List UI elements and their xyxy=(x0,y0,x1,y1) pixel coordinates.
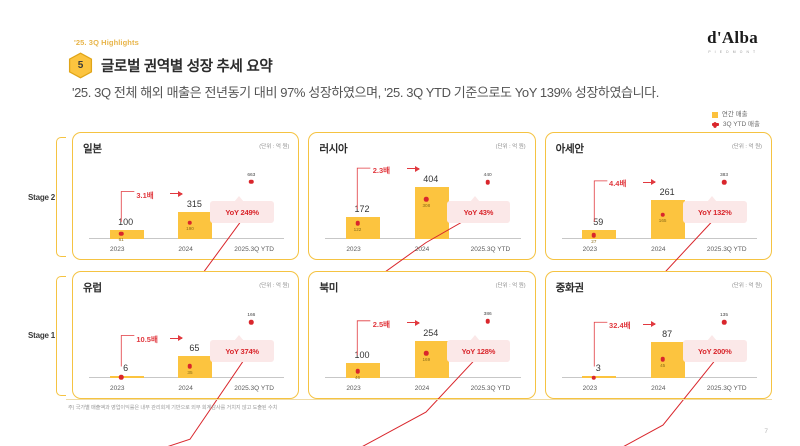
page-title: 글로벌 권역별 성장 추세 요약 xyxy=(101,55,272,76)
x-axis-tick-label: 2023 xyxy=(319,385,387,392)
yoy-callout-pointer xyxy=(470,196,480,202)
region-card-unit: (단위 : 억 원) xyxy=(259,281,289,289)
region-chart-plot: 3874513532.4배YoY 200%202320242025.3Q YTD xyxy=(556,297,761,393)
growth-multiple-label: 2.3배 xyxy=(373,165,390,176)
growth-arrow-icon xyxy=(643,182,655,183)
x-axis-tick-label: 2024 xyxy=(624,385,692,392)
region-card[interactable]: 북미(단위 : 억 원)100254461693862.5배YoY 128%20… xyxy=(308,271,535,399)
legend-diamond-icon xyxy=(712,122,719,129)
yoy-callout-pointer xyxy=(707,335,717,341)
page-title-row: 5 글로벌 권역별 성장 추세 요약 xyxy=(68,52,272,79)
region-card[interactable]: 러시아(단위 : 억 원)1724041223084402.3배YoY 43%2… xyxy=(308,132,535,260)
growth-multiple-label: 10.5배 xyxy=(136,334,158,345)
chart-x-labels: 202320242025.3Q YTD xyxy=(83,385,288,392)
region-chart-plot: 100315611906633.1배YoY 249%202320242025.3… xyxy=(83,158,288,254)
eyebrow-label: '25. 3Q Highlights xyxy=(74,38,139,47)
x-axis-tick-label: 2025.3Q YTD xyxy=(693,246,761,253)
x-axis-tick-label: 2023 xyxy=(83,246,151,253)
x-axis-tick-label: 2023 xyxy=(556,385,624,392)
logo-wordmark: d'Alba xyxy=(707,28,758,48)
yoy-callout: YoY 132% xyxy=(683,201,747,223)
stage-label-2: Stage 2 xyxy=(28,193,55,202)
growth-multiple-label: 3.1배 xyxy=(136,190,153,201)
chart-x-labels: 202320242025.3Q YTD xyxy=(556,385,761,392)
region-card-unit: (단위 : 억 원) xyxy=(732,281,762,289)
growth-arrow-icon xyxy=(170,338,182,339)
region-chart-plot: 100254461693862.5배YoY 128%202320242025.3… xyxy=(319,297,524,393)
region-chart-plot: 1724041223084402.3배YoY 43%202320242025.3… xyxy=(319,158,524,254)
region-card-unit: (단위 : 억 원) xyxy=(732,142,762,150)
x-axis-tick-label: 2024 xyxy=(151,246,219,253)
legend-item-annual: 연간 매출 xyxy=(712,110,760,120)
yoy-callout: YoY 200% xyxy=(683,340,747,362)
x-axis-tick-label: 2024 xyxy=(388,385,456,392)
chart-x-labels: 202320242025.3Q YTD xyxy=(556,246,761,253)
region-card-title: 중화권 xyxy=(556,280,761,295)
x-axis-tick-label: 2024 xyxy=(388,246,456,253)
footer-divider xyxy=(66,399,772,400)
region-card[interactable]: 중화권(단위 : 억 원)3874513532.4배YoY 200%202320… xyxy=(545,271,772,399)
legend-label-annual: 연간 매출 xyxy=(722,110,748,120)
region-card-title: 북미 xyxy=(319,280,524,295)
x-axis-tick-label: 2025.3Q YTD xyxy=(220,246,288,253)
legend-label-ytd: 3Q YTD 매출 xyxy=(723,120,760,130)
legend-item-ytd: 3Q YTD 매출 xyxy=(712,120,760,130)
growth-arrow-icon xyxy=(407,168,419,169)
logo-tagline: P I E D M O N T xyxy=(707,50,758,54)
region-card[interactable]: 아세안(단위 : 억 원)59261271653834.4배YoY 132%20… xyxy=(545,132,772,260)
yoy-callout: YoY 43% xyxy=(447,201,511,223)
region-card-title: 러시아 xyxy=(319,141,524,156)
region-card-unit: (단위 : 억 원) xyxy=(496,281,526,289)
x-axis-tick-label: 2023 xyxy=(556,246,624,253)
growth-arrow-icon xyxy=(407,322,419,323)
section-number-badge: 5 xyxy=(68,52,93,79)
region-card-title: 유럽 xyxy=(83,280,288,295)
yoy-callout-pointer xyxy=(707,196,717,202)
chart-x-labels: 202320242025.3Q YTD xyxy=(319,385,524,392)
stage-bracket-2 xyxy=(56,137,66,257)
region-card-unit: (단위 : 억 원) xyxy=(496,142,526,150)
slide-root: d'Alba P I E D M O N T '25. 3Q Highlight… xyxy=(0,0,800,446)
growth-multiple-label: 4.4배 xyxy=(609,178,626,189)
region-card-grid: 일본(단위 : 억 원)100315611906633.1배YoY 249%20… xyxy=(72,132,772,399)
region-chart-plot: 59261271653834.4배YoY 132%202320242025.3Q… xyxy=(556,158,761,254)
growth-multiple-label: 32.4배 xyxy=(609,320,631,331)
x-axis-tick-label: 2025.3Q YTD xyxy=(220,385,288,392)
legend-square-icon xyxy=(712,112,718,118)
yoy-callout-pointer xyxy=(470,335,480,341)
footnote-text: 주) 국가별 매출액과 영업이익률은 내부 관리회계 기반으로 외부 회계감사를… xyxy=(68,404,277,411)
page-number: 7 xyxy=(764,428,768,435)
stage-label-1: Stage 1 xyxy=(28,331,55,340)
yoy-callout-pointer xyxy=(234,335,244,341)
yoy-callout-pointer xyxy=(234,196,244,202)
x-axis-tick-label: 2025.3Q YTD xyxy=(456,246,524,253)
region-chart-plot: 6653516610.5배YoY 374%202320242025.3Q YTD xyxy=(83,297,288,393)
x-axis-tick-label: 2024 xyxy=(624,246,692,253)
growth-multiple-label: 2.5배 xyxy=(373,319,390,330)
brand-logo: d'Alba P I E D M O N T xyxy=(707,28,758,54)
x-axis-tick-label: 2025.3Q YTD xyxy=(693,385,761,392)
region-card-title: 아세안 xyxy=(556,141,761,156)
section-number: 5 xyxy=(78,60,84,71)
region-card[interactable]: 유럽(단위 : 억 원)6653516610.5배YoY 374%2023202… xyxy=(72,271,299,399)
growth-arrow-icon xyxy=(643,324,655,325)
page-subtitle: '25. 3Q 전체 해외 매출은 전년동기 대비 97% 성장하였으며, '2… xyxy=(72,82,659,101)
yoy-callout: YoY 374% xyxy=(210,340,274,362)
growth-arrow-icon xyxy=(170,193,182,194)
region-card-unit: (단위 : 억 원) xyxy=(259,142,289,150)
x-axis-tick-label: 2025.3Q YTD xyxy=(456,385,524,392)
yoy-callout: YoY 128% xyxy=(447,340,511,362)
stage-bracket-1 xyxy=(56,276,66,396)
x-axis-tick-label: 2023 xyxy=(83,385,151,392)
chart-x-labels: 202320242025.3Q YTD xyxy=(83,246,288,253)
yoy-callout: YoY 249% xyxy=(210,201,274,223)
x-axis-tick-label: 2024 xyxy=(151,385,219,392)
chart-x-labels: 202320242025.3Q YTD xyxy=(319,246,524,253)
region-card-title: 일본 xyxy=(83,141,288,156)
x-axis-tick-label: 2023 xyxy=(319,246,387,253)
region-card[interactable]: 일본(단위 : 억 원)100315611906633.1배YoY 249%20… xyxy=(72,132,299,260)
chart-legend: 연간 매출 3Q YTD 매출 xyxy=(712,110,760,130)
